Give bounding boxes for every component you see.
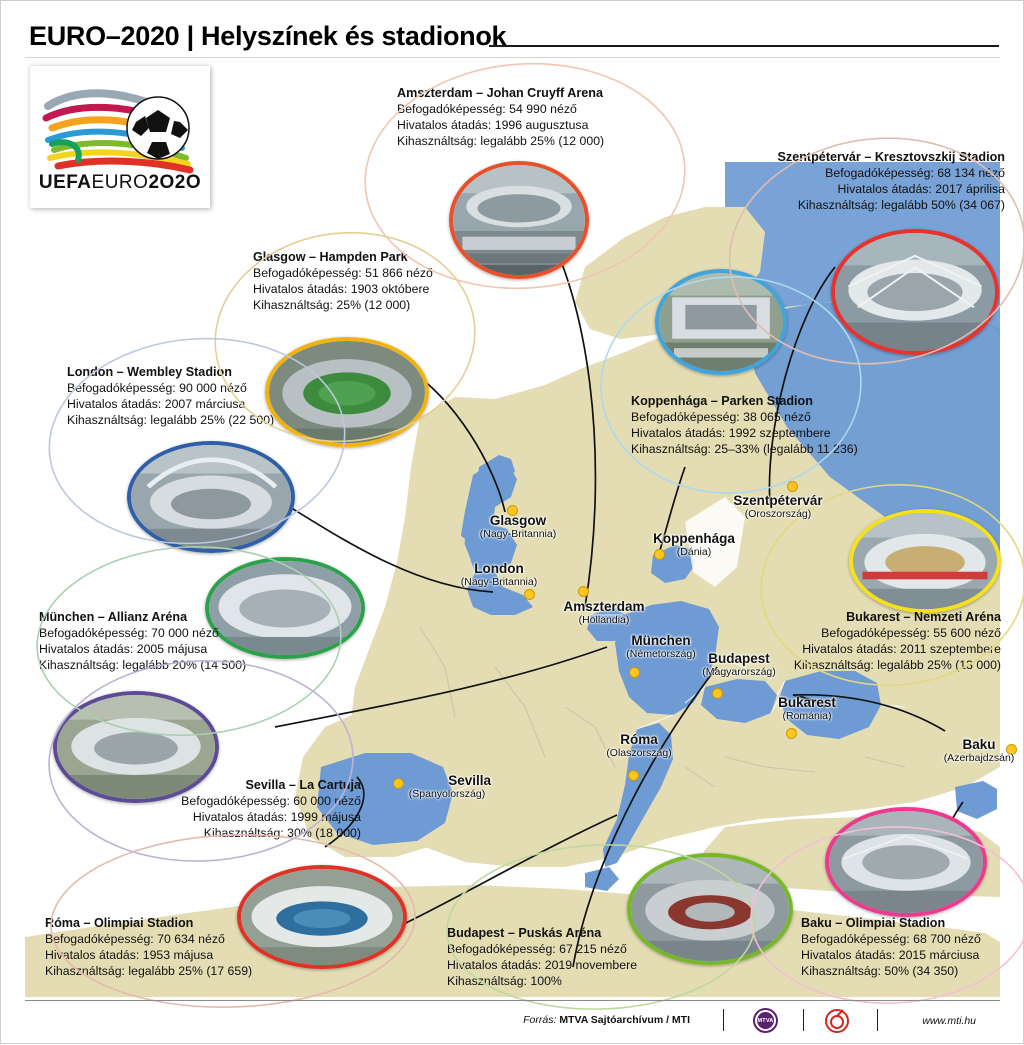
venue-usage: Kihasználtság: 25–33% (legalább 11 236) (631, 442, 858, 458)
venue-capacity: Befogadóképesség: 70 634 néző (45, 932, 252, 948)
venue-capacity: Befogadóképesség: 70 000 néző (39, 626, 246, 642)
venue-title: Bukarest – Nemzeti Aréna (701, 609, 1001, 625)
venue-title: Sevilla – La Cartuja (61, 777, 361, 793)
city-dot-london (524, 589, 535, 600)
footer-separator-2 (803, 1009, 804, 1031)
venue-title: Koppenhága – Parken Stadion (631, 393, 858, 409)
city-label-amszterdam: Amszterdam (Hollandia) (549, 599, 659, 626)
venue-info-baku: Baku – Olimpiai Stadion Befogadóképesség… (801, 915, 981, 980)
venue-info-munchen: München – Allianz Aréna Befogadóképesség… (39, 609, 246, 674)
venue-opened: Hivatalos átadás: 2007 márciusa (67, 397, 274, 413)
venue-info-koppenhaga: Koppenhága – Parken Stadion Befogadóképe… (631, 393, 858, 458)
venue-opened: Hivatalos átadás: 1903 októbere (253, 282, 433, 298)
venue-capacity: Befogadóképesség: 38 065 néző (631, 410, 858, 426)
stadium-photo-london (127, 441, 295, 553)
venue-opened: Hivatalos átadás: 2017 áprilisa (685, 182, 1005, 198)
venue-usage: Kihasználtság: 25% (12 000) (253, 298, 433, 314)
city-country: (Azerbajdzsán) (939, 752, 1019, 764)
city-name: Bukarest (757, 695, 857, 710)
footer-divider (25, 1000, 1000, 1001)
mti-logo-icon (824, 1008, 850, 1034)
venue-usage: Kihasználtság: 100% (447, 974, 637, 990)
venue-title: Szentpétervár – Kresztovszkij Stadion (685, 149, 1005, 165)
city-name: Róma (593, 732, 685, 747)
city-dot-bukarest (786, 728, 797, 739)
venue-usage: Kihasználtság: legalább 25% (12 000) (397, 134, 604, 150)
stadium-photo-amszterdam (449, 161, 589, 279)
city-name: Baku (939, 737, 1019, 752)
city-label-roma: Róma (Olaszország) (593, 732, 685, 759)
venue-info-sevilla: Sevilla – La Cartuja Befogadóképesség: 6… (61, 777, 361, 842)
city-name: Szentpétervár (719, 493, 837, 508)
mtva-logo-icon: MTVA (753, 1008, 778, 1033)
infographic-page: EURO–2020 | Helyszínek és stadionok (0, 0, 1024, 1044)
venue-capacity: Befogadóképesség: 68 700 néző (801, 932, 981, 948)
venue-info-glasgow: Glasgow – Hampden Park Befogadóképesség:… (253, 249, 433, 314)
venue-opened: Hivatalos átadás: 2005 májusa (39, 642, 246, 658)
header: EURO–2020 | Helyszínek és stadionok (1, 1, 1024, 63)
venue-capacity: Befogadóképesség: 55 600 néző (701, 626, 1001, 642)
stadium-photo-koppenhaga (655, 269, 787, 375)
venue-opened: Hivatalos átadás: 1999 májusa (61, 810, 361, 826)
venue-capacity: Befogadóképesség: 67 215 néző (447, 942, 637, 958)
venue-info-amszterdam: Amszterdam – Johan Cruyff Arena Befogadó… (397, 85, 604, 150)
venue-title: München – Allianz Aréna (39, 609, 246, 625)
footer: Forrás: MTVA Sajtóarchívum / MTI MTVA ww… (25, 1000, 1000, 1042)
footer-separator-1 (723, 1009, 724, 1031)
venue-usage: Kihasználtság: legalább 50% (34 067) (685, 198, 1005, 214)
venue-usage: Kihasználtság: 50% (34 350) (801, 964, 981, 980)
title-rule (489, 45, 999, 47)
city-country: (Spanyolország) (387, 788, 491, 800)
venue-usage: Kihasználtság: 30% (18 000) (61, 826, 361, 842)
svg-text:UEFAEURO2O2O: UEFAEURO2O2O (39, 172, 201, 193)
city-name: London (453, 561, 545, 576)
city-name: Budapest (683, 651, 795, 666)
stadium-photo-baku (825, 807, 987, 917)
stadium-photo-bukarest (849, 509, 1001, 613)
venue-capacity: Befogadóképesség: 54 990 néző (397, 102, 604, 118)
source-url: www.mti.hu (922, 1015, 976, 1027)
city-name: Sevilla (387, 773, 491, 788)
footer-separator-3 (877, 1009, 878, 1031)
venue-opened: Hivatalos átadás: 2015 márciusa (801, 948, 981, 964)
header-divider (25, 57, 1000, 58)
city-country: (Hollandia) (549, 614, 659, 626)
city-label-budapest: Budapest (Magyarország) (683, 651, 795, 678)
venue-usage: Kihasználtság: legalább 25% (17 659) (45, 964, 252, 980)
venue-opened: Hivatalos átadás: 1953 májusa (45, 948, 252, 964)
city-country: (Dánia) (642, 546, 746, 558)
city-dot-amszterdam (578, 586, 589, 597)
city-name: Amszterdam (549, 599, 659, 614)
venue-usage: Kihasználtság: legalább 25% (22 500) (67, 413, 274, 429)
venue-opened: Hivatalos átadás: 1996 augusztusa (397, 118, 604, 134)
source-text: Forrás: MTVA Sajtóarchívum / MTI (523, 1014, 690, 1026)
venue-title: Glasgow – Hampden Park (253, 249, 433, 265)
city-country: (Magyarország) (683, 666, 795, 678)
stadium-photo-szentpetervar (831, 229, 999, 355)
city-dot-budapest (712, 688, 723, 699)
stadium-photo-roma (237, 865, 407, 969)
venue-title: Budapest – Puskás Aréna (447, 925, 637, 941)
city-country: (Nagy-Britannia) (453, 576, 545, 588)
venue-capacity: Befogadóképesség: 60 000 néző (61, 794, 361, 810)
venue-usage: Kihasználtság: legalább 20% (14 500) (39, 658, 246, 674)
city-name: Glasgow (473, 513, 563, 528)
venue-info-roma: Róma – Olimpiai Stadion Befogadóképesség… (45, 915, 252, 980)
city-label-baku: Baku (Azerbajdzsán) (939, 737, 1019, 764)
venue-title: London – Wembley Stadion (67, 364, 274, 380)
venue-info-szentpetervar: Szentpétervár – Kresztovszkij Stadion Be… (685, 149, 1005, 214)
venue-title: Amszterdam – Johan Cruyff Arena (397, 85, 604, 101)
venue-capacity: Befogadóképesség: 68 134 néző (685, 166, 1005, 182)
venue-info-budapest: Budapest – Puskás Aréna Befogadóképesség… (447, 925, 637, 990)
page-title: EURO–2020 | Helyszínek és stadionok (29, 21, 506, 52)
source-prefix: Forrás: (523, 1014, 556, 1026)
city-label-koppenhaga: Koppenhága (Dánia) (642, 531, 746, 558)
venue-title: Baku – Olimpiai Stadion (801, 915, 981, 931)
venue-info-london: London – Wembley Stadion Befogadóképessé… (67, 364, 274, 429)
uefa-euro-2020-logo: UEFAEURO2O2O (29, 65, 209, 207)
stadium-photo-budapest (627, 853, 793, 965)
city-country: (Olaszország) (593, 747, 685, 759)
mtva-logo-label: MTVA (757, 1012, 774, 1029)
venue-opened: Hivatalos átadás: 1992 szeptembere (631, 426, 858, 442)
city-dot-roma (628, 770, 639, 781)
city-label-szentpetervar: Szentpétervár (Oroszország) (719, 493, 837, 520)
city-name: München (609, 633, 713, 648)
city-dot-munchen (629, 667, 640, 678)
city-label-bukarest: Bukarest (Románia) (757, 695, 857, 722)
venue-title: Róma – Olimpiai Stadion (45, 915, 252, 931)
city-country: (Románia) (757, 710, 857, 722)
source-name: MTVA Sajtóarchívum / MTI (559, 1014, 690, 1026)
city-label-sevilla: Sevilla (Spanyolország) (387, 773, 491, 800)
city-name: Koppenhága (642, 531, 746, 546)
city-label-glasgow: Glasgow (Nagy-Britannia) (473, 513, 563, 540)
venue-capacity: Befogadóképesség: 90 000 néző (67, 381, 274, 397)
city-dot-szentpetervar (787, 481, 798, 492)
stadium-photo-glasgow (265, 337, 429, 447)
city-country: (Nagy-Britannia) (473, 528, 563, 540)
venue-capacity: Befogadóképesség: 51 866 néző (253, 266, 433, 282)
city-label-london: London (Nagy-Britannia) (453, 561, 545, 588)
venue-opened: Hivatalos átadás: 2019 novembere (447, 958, 637, 974)
city-country: (Oroszország) (719, 508, 837, 520)
